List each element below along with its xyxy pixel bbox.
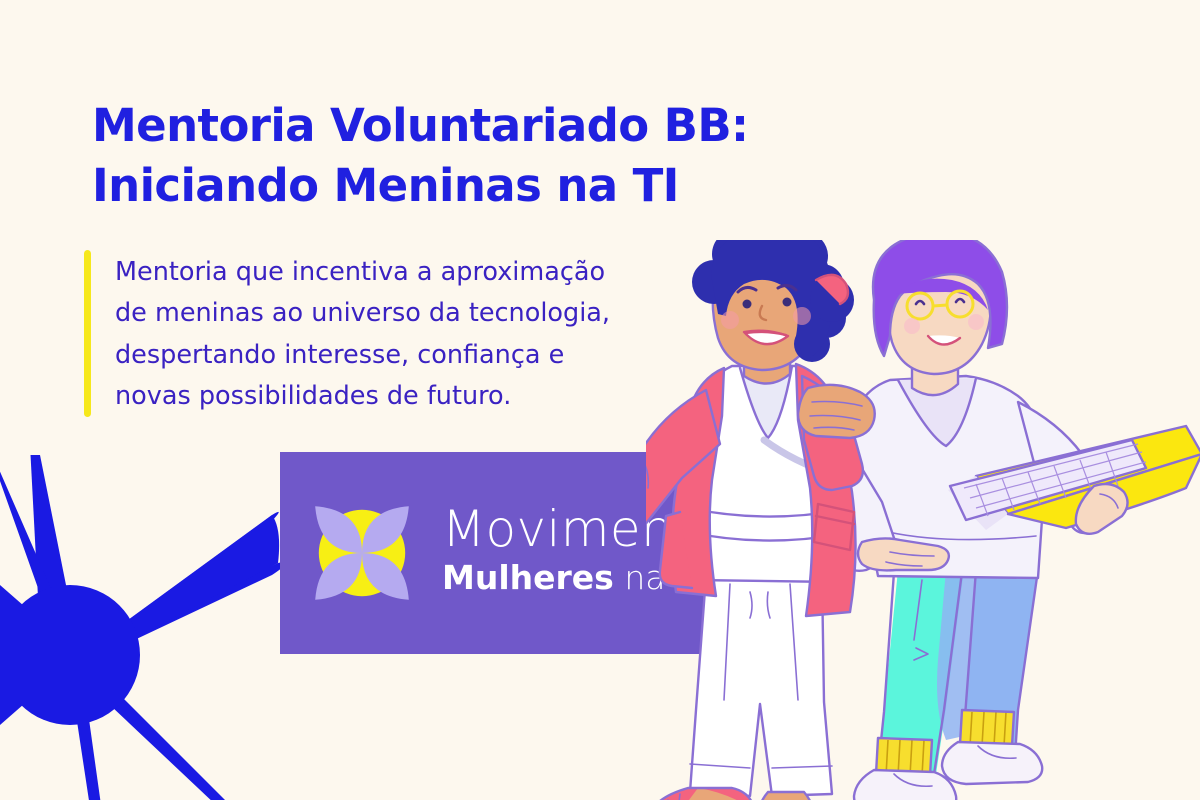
blue-starburst-shape-icon: [0, 455, 280, 800]
badge-subtitle-ti: TI: [676, 558, 711, 597]
badge-subtitle-mulheres: Mulheres: [442, 558, 614, 597]
page-title-line-1: Mentoria Voluntariado BB:: [92, 96, 852, 156]
striped-socks: [876, 710, 1014, 776]
yellow-accent-bar: [84, 250, 91, 417]
right-woman-shoes: [854, 742, 1042, 800]
badge-subtitle-na: na: [624, 558, 665, 597]
subtitle-line-2: de meninas ao universo da tecnologia,: [115, 293, 610, 334]
laptop-icon: [948, 426, 1200, 534]
page-title-line-2: Iniciando Meninas na TI: [92, 156, 852, 216]
curly-hair: [692, 240, 846, 362]
poster-canvas: Mentoria Voluntariado BB: Iniciando Meni…: [0, 0, 1200, 800]
left-woman-shoes: [651, 788, 815, 800]
subtitle-line-1: Mentoria que incentiva a aproximação: [115, 252, 610, 293]
subtitle-block: Mentoria que incentiva a aproximação de …: [84, 250, 684, 417]
movimento-mulheres-na-ti-badge: Movimento Mulheres na TI: [280, 452, 753, 654]
badge-subtitle: Mulheres na TI: [442, 557, 724, 598]
page-title: Mentoria Voluntariado BB: Iniciando Meni…: [92, 96, 852, 216]
subtitle-text: Mentoria que incentiva a aproximação de …: [115, 250, 610, 417]
woman-right-figure: [835, 240, 1200, 800]
badge-title: Movimento: [442, 503, 724, 555]
eyeglasses-icon: [907, 291, 973, 319]
four-petal-flower-logo-icon: [308, 499, 416, 607]
badge-wordmark: Movimento Mulheres na TI: [442, 503, 724, 602]
subtitle-line-3: despertando interesse, confiança e: [115, 335, 610, 376]
subtitle-line-4: novas possibilidades de futuro.: [115, 376, 610, 417]
